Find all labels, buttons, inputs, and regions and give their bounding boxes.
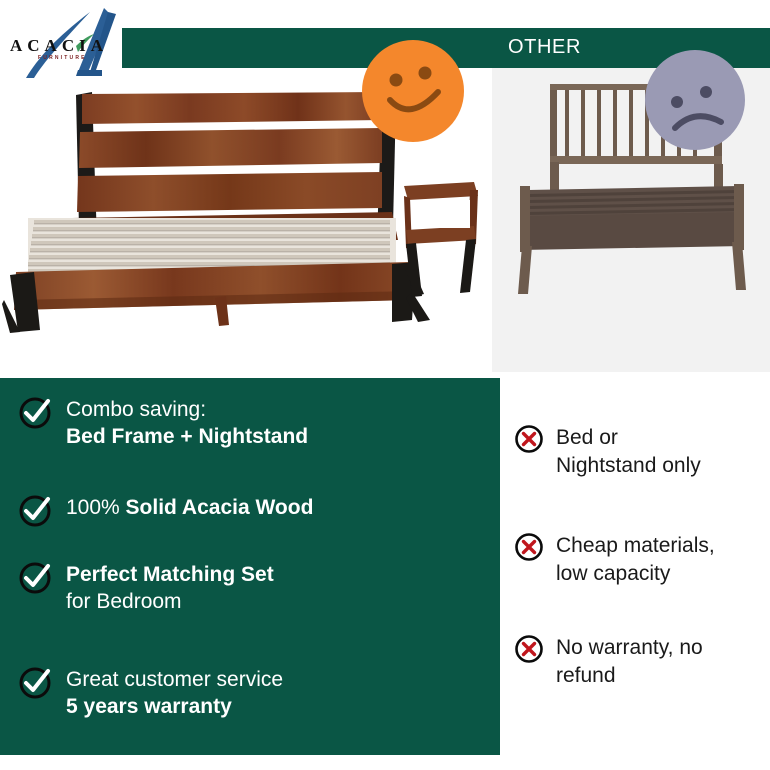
feature-text: Combo saving: Bed Frame + Nightstand	[66, 396, 308, 450]
drawback-line-2: Nightstand only	[556, 452, 701, 480]
feature-line-1: Combo saving:	[66, 398, 206, 421]
drawback-line-1: No warranty, no	[556, 634, 703, 662]
x-circle-icon	[514, 424, 544, 459]
drawback-line-2: refund	[556, 662, 703, 690]
brand-logo: ACACIA FURNITURE	[4, 6, 126, 74]
drawback-line-2: low capacity	[556, 560, 715, 588]
other-column-label: OTHER	[508, 36, 581, 59]
feature-line-1: 100%	[66, 496, 126, 519]
drawback-item-cheap-materials: Cheap materials, low capacity	[514, 532, 764, 588]
cons-panel: Bed or Nightstand only Cheap materials, …	[500, 372, 770, 770]
brand-tagline: FURNITURE	[38, 55, 87, 61]
check-circle-icon	[18, 396, 52, 435]
feature-line-2: Bed Frame + Nightstand	[66, 423, 308, 450]
feature-text: 100% Solid Acacia Wood	[66, 494, 313, 521]
drawback-text: Cheap materials, low capacity	[556, 532, 715, 588]
feature-line-1-bold: Solid Acacia Wood	[126, 496, 314, 519]
feature-item-matching-set: Perfect Matching Set for Bedroom	[18, 561, 478, 615]
comparison-infographic: OTHER ACACIA FURNITURE	[0, 0, 770, 770]
brand-name: ACACIA	[10, 36, 108, 56]
feature-item-solid-wood: 100% Solid Acacia Wood	[18, 494, 478, 533]
feature-item-combo: Combo saving: Bed Frame + Nightstand	[18, 396, 478, 450]
check-circle-icon	[18, 494, 52, 533]
check-circle-icon	[18, 561, 52, 600]
drawback-line-1: Cheap materials,	[556, 532, 715, 560]
feature-text: Perfect Matching Set for Bedroom	[66, 561, 274, 615]
check-circle-icon	[18, 666, 52, 705]
feature-line-1: Perfect Matching Set	[66, 563, 274, 586]
drawback-item-no-warranty: No warranty, no refund	[514, 634, 764, 690]
feature-line-2: for Bedroom	[66, 588, 274, 615]
pros-panel: Combo saving: Bed Frame + Nightstand 100…	[0, 378, 500, 755]
drawback-text: No warranty, no refund	[556, 634, 703, 690]
happy-face-icon	[362, 40, 464, 142]
feature-line-1: Great customer service	[66, 668, 283, 691]
x-circle-icon	[514, 634, 544, 669]
feature-text: Great customer service 5 years warranty	[66, 666, 283, 720]
drawback-text: Bed or Nightstand only	[556, 424, 701, 480]
drawback-line-1: Bed or	[556, 424, 701, 452]
x-circle-icon	[514, 532, 544, 567]
sad-face-icon	[645, 50, 745, 150]
feature-item-customer-service: Great customer service 5 years warranty	[18, 666, 478, 720]
feature-line-2: 5 years warranty	[66, 693, 283, 720]
drawback-item-bed-or-nightstand: Bed or Nightstand only	[514, 424, 764, 480]
